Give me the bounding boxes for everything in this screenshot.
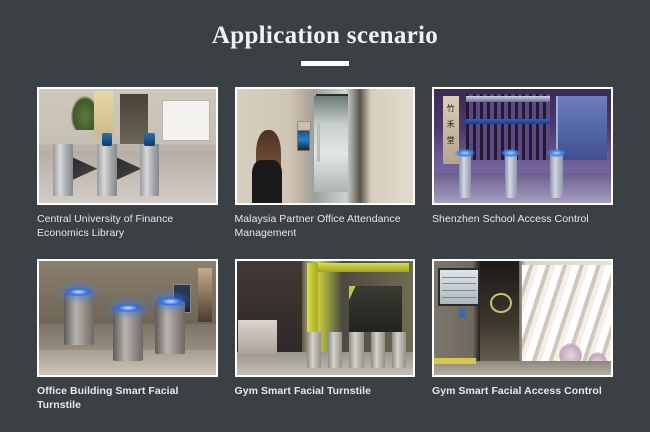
library-turnstile-photo — [39, 89, 216, 203]
photo-frame[interactable] — [37, 259, 218, 377]
turnstile-pillar — [459, 153, 471, 199]
turnstile-pillar — [550, 153, 562, 199]
turnstile-pillar — [328, 332, 342, 368]
gallery-cell[interactable]: Gym Smart Facial Turnstile — [235, 259, 416, 413]
gym-equipment — [349, 286, 402, 332]
sign-character: 竹 — [443, 103, 459, 114]
speed-gate-body — [64, 293, 94, 345]
gallery-cell[interactable]: Central University of Finance Economics … — [37, 87, 218, 241]
face-reader-head — [144, 133, 155, 146]
photo-caption: Gym Smart Facial Turnstile — [235, 385, 416, 399]
office-attendance-photo — [237, 89, 414, 203]
face-recognition-terminal — [297, 130, 310, 151]
face-reader-head — [102, 133, 113, 146]
turnstile-pillar — [97, 144, 116, 196]
photo-frame[interactable] — [235, 259, 416, 377]
speed-gate-body — [155, 302, 185, 354]
reception-counter — [238, 320, 277, 354]
whiteboard — [162, 100, 210, 141]
led-glow — [154, 296, 188, 306]
gallery-cell[interactable]: Office Building Smart Facial Turnstile — [37, 259, 218, 413]
office-building-turnstile-photo — [39, 261, 216, 375]
person-body — [252, 160, 282, 203]
turnstile-pillar — [505, 153, 517, 199]
gallery-cell[interactable]: Gym Smart Facial Access Control — [432, 259, 613, 413]
photo-frame[interactable] — [37, 87, 218, 205]
yellow-beam — [307, 263, 409, 272]
photo-frame[interactable]: 竹 禾 堂 — [432, 87, 613, 205]
gym-turnstile-photo — [237, 261, 414, 375]
school-access-photo: 竹 禾 堂 — [434, 89, 611, 203]
turnstile-pillar — [392, 332, 406, 368]
yellow-floor-strip — [434, 358, 476, 364]
sign-character: 禾 — [443, 119, 459, 130]
photo-frame[interactable] — [432, 259, 613, 377]
gallery-row-top: Central University of Finance Economics … — [37, 87, 613, 241]
standing-banner — [94, 91, 113, 137]
gallery-row-bottom: Office Building Smart Facial Turnstile — [37, 259, 613, 413]
person-figure — [198, 268, 212, 323]
railing-top-bar — [466, 96, 551, 102]
turnstile-pillar — [307, 332, 321, 368]
photo-caption: Central University of Finance Economics … — [37, 213, 218, 241]
sign-character: 堂 — [443, 135, 459, 146]
photo-caption: Shenzhen School Access Control — [432, 213, 613, 227]
gym-access-control-photo — [434, 261, 611, 375]
page-title: Application scenario — [0, 22, 650, 50]
information-screen — [438, 268, 481, 306]
door-handle — [317, 123, 320, 162]
speed-gate-body — [113, 309, 143, 361]
photo-frame[interactable] — [235, 87, 416, 205]
page-header: Application scenario — [0, 0, 650, 66]
turnstile-pillar — [371, 332, 385, 368]
railing-mid-bar — [466, 119, 551, 125]
photo-caption: Office Building Smart Facial Turnstile — [37, 385, 218, 413]
turnstile-pillar — [53, 144, 72, 196]
circular-emblem — [490, 293, 512, 313]
turnstile-pillar — [140, 144, 159, 196]
entrance-doorway — [480, 261, 519, 366]
scenario-gallery: Central University of Finance Economics … — [37, 87, 613, 413]
gallery-cell[interactable]: Malaysia Partner Office Attendance Manag… — [235, 87, 416, 241]
wall-card-reader — [459, 309, 466, 318]
gallery-cell[interactable]: 竹 禾 堂 Shenzhen School Access Control — [432, 87, 613, 241]
photo-caption: Malaysia Partner Office Attendance Manag… — [235, 213, 416, 241]
turnstile-pillar — [349, 332, 363, 368]
floor-surface — [237, 352, 414, 375]
photo-caption: Gym Smart Facial Access Control — [432, 385, 613, 399]
title-underline-bar — [301, 61, 349, 66]
